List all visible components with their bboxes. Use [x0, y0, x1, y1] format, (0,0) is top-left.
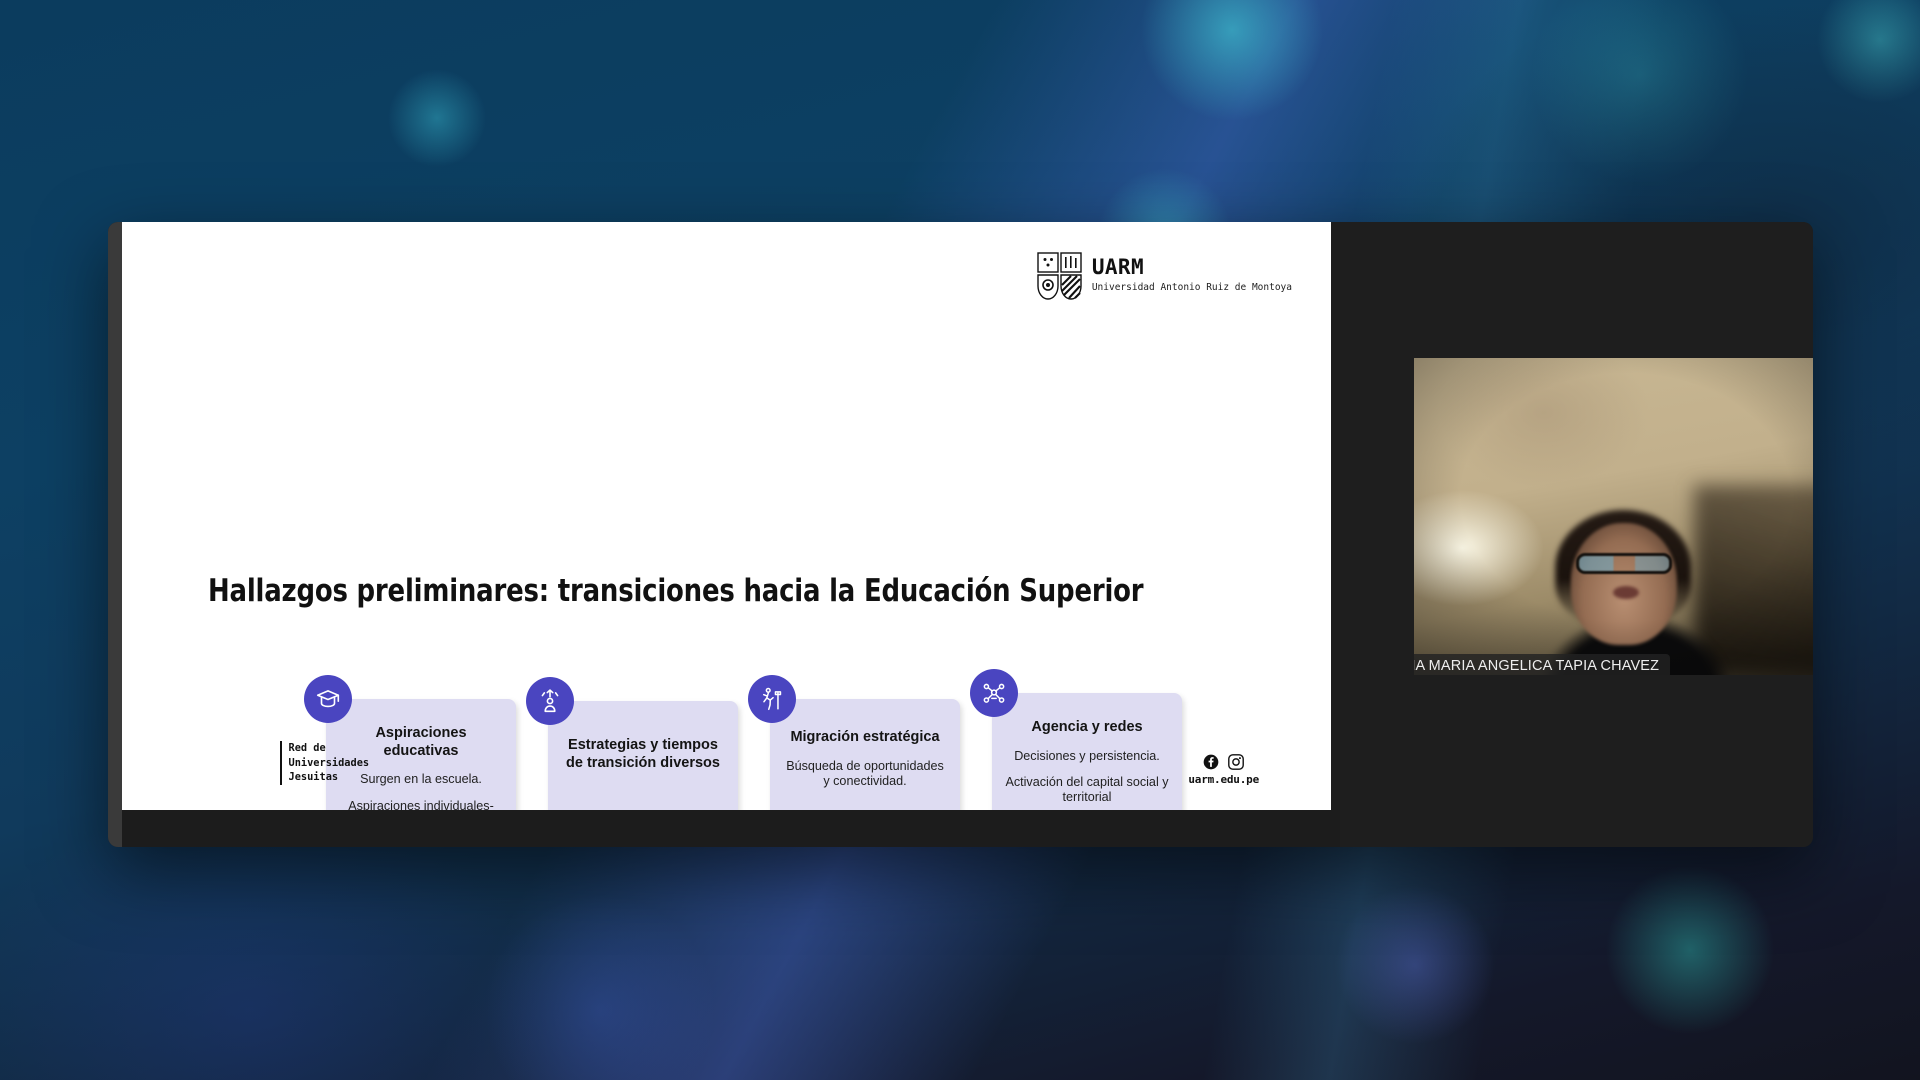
- screen-share-window: UARM Universidad Antonio Ruiz de Montoya…: [108, 222, 1813, 847]
- participant-video-tile[interactable]: ANA MARIA ANGELICA TAPIA CHAVEZ: [1414, 358, 1813, 675]
- card-estrategias-transicion[interactable]: Estrategias y tiempos de transición dive…: [548, 701, 738, 810]
- brand-name: UARM: [1092, 257, 1292, 278]
- card-title: Migración estratégica: [782, 729, 948, 747]
- uarm-logo: UARM Universidad Antonio Ruiz de Montoya: [1037, 252, 1292, 300]
- slide-title: Hallazgos preliminares: transiciones hac…: [208, 573, 1143, 609]
- network-nodes-icon: [970, 669, 1018, 717]
- video-participant-panel[interactable]: ANA MARIA ANGELICA TAPIA CHAVEZ: [1340, 222, 1813, 847]
- card-body-line: Aspiraciones individuales-familiares.: [338, 799, 504, 810]
- card-agencia-y-redes[interactable]: Agencia y redes Decisiones y persistenci…: [992, 693, 1182, 810]
- card-title: Aspiraciones educativas: [338, 725, 504, 760]
- footer-website-url: uarm.edu.pe: [1188, 773, 1259, 786]
- social-icons-row: [1203, 754, 1244, 770]
- instagram-icon[interactable]: [1228, 754, 1244, 770]
- card-aspiraciones-educativas[interactable]: Aspiraciones educativas Surgen en la esc…: [326, 699, 516, 810]
- cards-row: Aspiraciones educativas Surgen en la esc…: [326, 677, 1206, 810]
- facebook-icon[interactable]: [1203, 754, 1219, 770]
- card-title: Estrategias y tiempos de transición dive…: [560, 737, 726, 772]
- card-title: Agencia y redes: [1004, 719, 1170, 737]
- window-left-chrome-strip: [108, 222, 122, 847]
- card-body-line: Búsqueda de oportunidades y conectividad…: [782, 759, 948, 790]
- card-body-line: Surgen en la escuela.: [338, 772, 504, 787]
- card-body-line: Activación del capital social y territor…: [1004, 775, 1170, 806]
- uarm-shield-icon: [1037, 252, 1083, 300]
- brand-subtitle: Universidad Antonio Ruiz de Montoya: [1092, 282, 1292, 295]
- traveler-walking-icon: [748, 675, 796, 723]
- video-vignette-overlay: [1414, 358, 1813, 675]
- card-migracion-estrategica[interactable]: Migración estratégica Búsqueda de oportu…: [770, 699, 960, 810]
- participant-name-text: ANA MARIA ANGELICA TAPIA CHAVEZ: [1414, 658, 1659, 674]
- graduation-cap-icon: [304, 675, 352, 723]
- card-body-line: Decisiones y persistencia.: [1004, 749, 1170, 764]
- footer-divider-rule: [280, 741, 282, 785]
- presentation-slide[interactable]: UARM Universidad Antonio Ruiz de Montoya…: [122, 222, 1331, 810]
- footer-social-block: uarm.edu.pe: [1188, 754, 1259, 786]
- participant-name-badge: ANA MARIA ANGELICA TAPIA CHAVEZ: [1414, 654, 1670, 675]
- person-arrows-icon: [526, 677, 574, 725]
